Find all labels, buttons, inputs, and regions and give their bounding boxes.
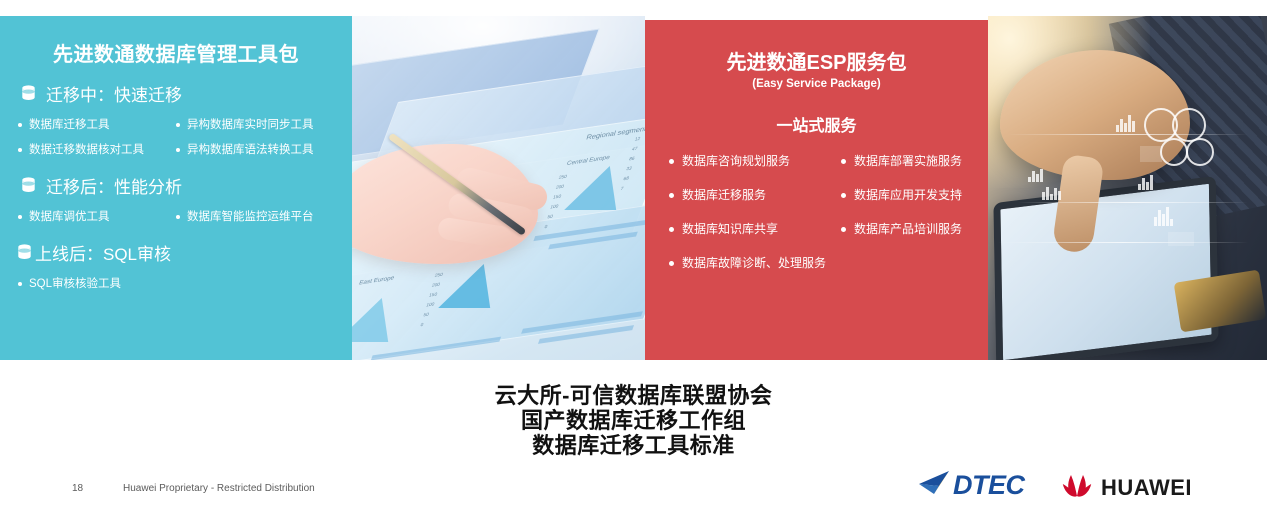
bullet-dot-icon bbox=[18, 148, 22, 152]
bullet-dot-icon bbox=[841, 159, 846, 164]
list-item: 数据库应用开发支持 bbox=[841, 188, 972, 202]
bullet-dot-icon bbox=[18, 215, 22, 219]
list-item: 数据库部署实施服务 bbox=[841, 154, 972, 168]
bullet-dot-icon bbox=[669, 159, 674, 164]
headline-line-2: 国产数据库迁移工作组 bbox=[0, 408, 1267, 433]
list-item: 数据库知识库共享 bbox=[669, 222, 841, 236]
headline-line-1: 云大所-可信数据库联盟协会 bbox=[0, 383, 1267, 408]
bullet-dot-icon bbox=[176, 215, 180, 219]
tablet-device bbox=[993, 176, 1218, 360]
headline-line-3: 数据库迁移工具标准 bbox=[0, 433, 1267, 458]
dtec-mark-icon bbox=[918, 470, 952, 501]
list-item: 数据库咨询规划服务 bbox=[669, 154, 841, 168]
banner-strip: 先进数通数据库管理工具包 迁移中：快速迁移 数据库迁移工具 bbox=[0, 16, 1267, 360]
teal-panel-title: 先进数通数据库管理工具包 bbox=[14, 38, 338, 67]
bullet-dot-icon bbox=[669, 193, 674, 198]
list-item-label: 数据库迁移服务 bbox=[682, 188, 766, 202]
huawei-wordmark: HUAWEI bbox=[1101, 477, 1192, 499]
teal-section-label: 迁移后：性能分析 bbox=[46, 173, 182, 198]
hud-bar-chart-icon bbox=[1154, 206, 1173, 226]
hud-line bbox=[1008, 134, 1248, 135]
teal-section-heading-performance: 迁移后：性能分析 bbox=[20, 173, 338, 198]
list-item: 异构数据库实时同步工具 bbox=[176, 118, 338, 132]
teal-section-label: 迁移中：快速迁移 bbox=[46, 81, 182, 106]
list-item-label: 数据库咨询规划服务 bbox=[682, 154, 790, 168]
analytics-photo: Regional segments Central Europe West Eu… bbox=[352, 16, 645, 360]
teal-section-heading-migration: 迁移中：快速迁移 bbox=[20, 81, 338, 106]
list-item: 数据库产品培训服务 bbox=[841, 222, 972, 236]
hud-bar-chart-icon bbox=[1138, 174, 1153, 190]
teal-section-heading-sql-review: 上线后：SQL审核 bbox=[16, 240, 338, 265]
tablet-photo bbox=[988, 16, 1267, 360]
list-item-label: SQL审核核验工具 bbox=[29, 277, 121, 291]
list-item-label: 数据迁移数据核对工具 bbox=[29, 143, 144, 157]
list-item: 数据库故障诊断、处理服务 bbox=[669, 256, 972, 270]
list-item-label: 数据库应用开发支持 bbox=[854, 188, 962, 202]
page-number: 18 bbox=[72, 483, 83, 494]
list-item: 数据库迁移工具 bbox=[18, 118, 176, 132]
teal-section-label: 上线后：SQL审核 bbox=[35, 240, 171, 265]
bullet-dot-icon bbox=[841, 227, 846, 232]
hud-panel bbox=[1140, 146, 1162, 162]
hud-ring-icon bbox=[1172, 108, 1206, 142]
database-icon bbox=[16, 243, 33, 262]
list-item-label: 数据库知识库共享 bbox=[682, 222, 778, 236]
bullet-dot-icon bbox=[176, 123, 180, 127]
dtec-logo: DTEC bbox=[918, 470, 1025, 501]
list-item: 数据库调优工具 bbox=[18, 210, 176, 224]
confidentiality-notice: Huawei Proprietary - Restricted Distribu… bbox=[123, 483, 315, 494]
list-item-label: 数据库产品培训服务 bbox=[854, 222, 962, 236]
headline-block: 云大所-可信数据库联盟协会 国产数据库迁移工作组 数据库迁移工具标准 bbox=[0, 383, 1267, 458]
hud-line bbox=[998, 242, 1248, 243]
list-item-label: 数据库调优工具 bbox=[29, 210, 110, 224]
hud-line bbox=[1018, 202, 1248, 203]
list-item: 数据库智能监控运维平台 bbox=[176, 210, 338, 224]
teal-bullet-grid-performance: 数据库调优工具 数据库智能监控运维平台 bbox=[18, 210, 338, 224]
bullet-dot-icon bbox=[18, 123, 22, 127]
list-item: 数据库迁移服务 bbox=[669, 188, 841, 202]
huawei-logo: HUAWEI bbox=[1062, 472, 1192, 503]
list-item: 数据迁移数据核对工具 bbox=[18, 143, 176, 157]
list-item-label: 数据库迁移工具 bbox=[29, 118, 110, 132]
list-item-label: 数据库智能监控运维平台 bbox=[187, 210, 314, 224]
hud-bar-chart-icon bbox=[1028, 168, 1043, 182]
slide-canvas: 先进数通数据库管理工具包 迁移中：快速迁移 数据库迁移工具 bbox=[0, 0, 1267, 510]
dtec-wordmark: DTEC bbox=[953, 472, 1025, 499]
huawei-flower-icon bbox=[1062, 472, 1092, 503]
red-panel-title: 先进数通ESP服务包 bbox=[661, 46, 972, 75]
red-panel-subtitle: (Easy Service Package) bbox=[661, 78, 972, 90]
hud-ring-icon bbox=[1160, 138, 1188, 166]
database-icon bbox=[20, 176, 37, 195]
red-bullet-grid: 数据库咨询规划服务 数据库部署实施服务 数据库迁移服务 数据库应用开发支持 数据… bbox=[669, 154, 972, 270]
list-item-label: 异构数据库实时同步工具 bbox=[187, 118, 314, 132]
teal-bullet-grid-sql-review: SQL审核核验工具 bbox=[18, 277, 338, 291]
bullet-dot-icon bbox=[669, 227, 674, 232]
list-item-label: 数据库部署实施服务 bbox=[854, 154, 962, 168]
bullet-dot-icon bbox=[841, 193, 846, 198]
bullet-dot-icon bbox=[176, 148, 180, 152]
list-item: SQL审核核验工具 bbox=[18, 277, 338, 291]
red-panel: 先进数通ESP服务包 (Easy Service Package) 一站式服务 … bbox=[645, 20, 988, 360]
bullet-dot-icon bbox=[669, 261, 674, 266]
hud-bar-chart-icon bbox=[1116, 114, 1135, 132]
teal-bullet-grid-migration: 数据库迁移工具 异构数据库实时同步工具 数据迁移数据核对工具 异构数据库语法转换… bbox=[18, 118, 338, 157]
list-item-label: 数据库故障诊断、处理服务 bbox=[682, 256, 826, 270]
hud-bar-chart-icon bbox=[1042, 186, 1061, 200]
hud-panel bbox=[1168, 232, 1194, 246]
hud-ring-icon bbox=[1186, 138, 1214, 166]
list-item-label: 异构数据库语法转换工具 bbox=[187, 143, 314, 157]
teal-panel: 先进数通数据库管理工具包 迁移中：快速迁移 数据库迁移工具 bbox=[0, 16, 352, 360]
list-item: 异构数据库语法转换工具 bbox=[176, 143, 338, 157]
red-panel-section-heading: 一站式服务 bbox=[661, 112, 972, 136]
database-icon bbox=[20, 84, 37, 103]
bullet-dot-icon bbox=[18, 282, 22, 286]
